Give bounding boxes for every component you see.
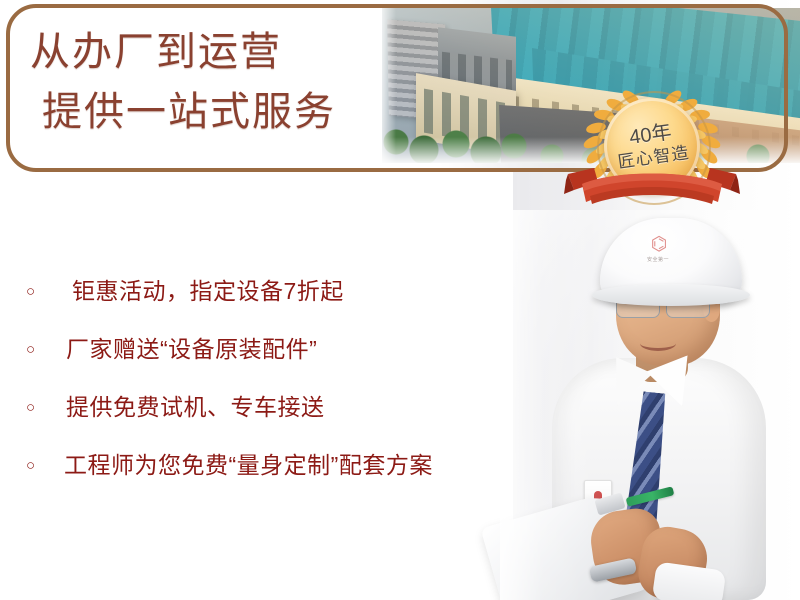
list-item: ○ 厂家赠送“设备原装配件” [26,320,496,378]
list-item: ○ 钜惠活动，指定设备7折起 [26,262,496,320]
bullet-circle-icon: ○ [26,342,60,357]
anniversary-badge: 40年 匠心智造 [578,86,726,214]
bullet-circle-icon: ○ [26,400,60,415]
list-item-label: 钜惠活动，指定设备7折起 [60,276,344,306]
promo-banner: 从办厂到运营 提供一站式服务 [0,0,800,600]
bullet-circle-icon: ○ [26,458,60,473]
engineer-figure: ⌬ 安全第一 [500,210,800,600]
list-item: ○ 工程师为您免费“量身定制”配套方案 [26,436,496,494]
headline-line-2: 提供一站式服务 [30,82,380,142]
list-item-label: 提供免费试机、专车接送 [60,392,325,422]
feature-list: ○ 钜惠活动，指定设备7折起 ○ 厂家赠送“设备原装配件” ○ 提供免费试机、专… [26,262,496,494]
headline-line-1: 从办厂到运营 [30,22,380,82]
list-item: ○ 提供免费试机、专车接送 [26,378,496,436]
list-item-label: 工程师为您免费“量身定制”配套方案 [60,450,433,480]
red-ribbon-banner [564,164,740,212]
headline: 从办厂到运营 提供一站式服务 [30,22,380,142]
list-item-label: 厂家赠送“设备原装配件” [60,334,317,364]
bullet-circle-icon: ○ [26,284,60,299]
engineer-edge-fade [500,210,800,600]
